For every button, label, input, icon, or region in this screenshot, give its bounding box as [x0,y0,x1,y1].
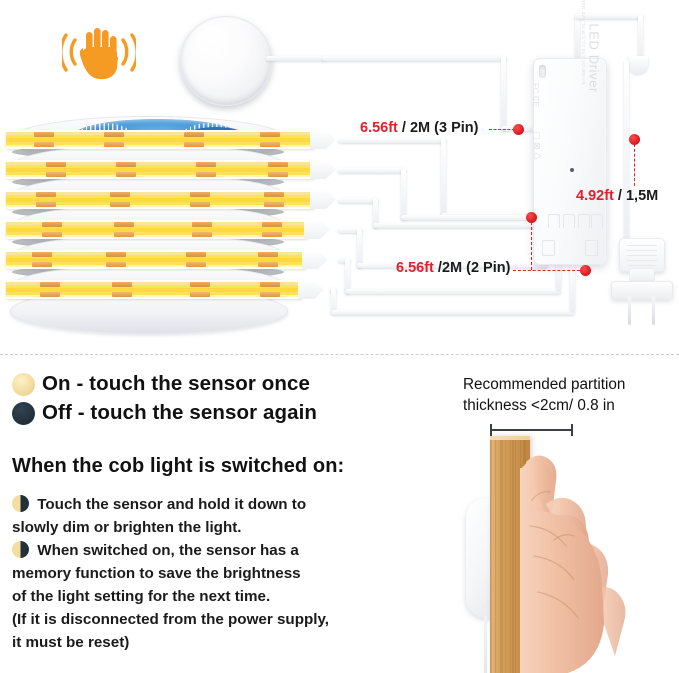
note-line: Touch the sensor and hold it down to [12,493,412,516]
led-strip [6,130,336,149]
harness-wire [556,262,561,290]
sensor-cable-stub [266,56,326,61]
wood-partition-top-edge [490,436,530,440]
partition-title: Recommended partition thickness <2cm/ 0.… [463,374,678,416]
compliance-symbols: ▢ ⊠ ♺ [531,131,542,160]
instructions-notes: Touch the sensor and hold it down to slo… [12,493,412,654]
note-line: (If it is disconnected from the power su… [12,608,412,631]
callout-dot-2pin-b [580,265,591,276]
ac-plug-head [619,238,665,272]
callout-2pin: 6.56ft /2M (2 Pin) [396,260,510,276]
hand-touching-partition [520,452,670,673]
led-strip-reel-stack [4,116,344,332]
half-moon-icon [12,495,29,512]
sensor-behind-wire [484,616,487,673]
driver-status-led [570,168,574,172]
plug-prong [652,297,655,325]
driver-brand-label: LED Driver [587,23,602,93]
driver-spec-text: MODEL: R2416-OUM04 INPUT: 100-240V~50/60… [580,0,586,85]
harness-wire [338,168,406,173]
round-touch-sensor [180,16,272,106]
ac-input-wire [575,14,580,60]
callout-leader-2pin-v [531,222,532,270]
note-line: memory function to save the brightness [12,562,412,585]
on-row: On - touch the sensor once [12,372,317,396]
driver-mount-notch [539,65,546,78]
led-strip [6,280,336,299]
off-row: Off - touch the sensor again [12,401,317,425]
led-strip [6,220,336,239]
instructions-panel: On - touch the sensor once Off - touch t… [0,362,430,673]
harness-wire [345,289,561,294]
led-strip [6,190,336,209]
led-strip [6,250,336,269]
note-line: slowly dim or brighten the light. [12,516,412,539]
full-moon-icon [12,373,35,396]
callout-power-cord: 4.92ft / 1,5M [576,188,658,204]
callout-3pin: 6.56ft / 2M (3 Pin) [360,120,478,136]
callout-dot-cord [629,134,640,145]
callout-leader-2pin [513,270,585,271]
ac-plug-base [611,281,673,300]
led-strip [6,160,336,179]
infographic-stage: LED Driver MODEL: R2416-OUM04 INPUT: 100… [0,0,679,673]
callout-dot-2pin-a [526,212,537,223]
callout-leader-3pin [489,129,515,130]
harness-wire [373,223,537,228]
harness-wire [441,138,446,218]
off-label: Off - touch the sensor again [42,401,317,425]
ac-input-wire [638,14,643,62]
wiring-diagram-panel: LED Driver MODEL: R2416-OUM04 INPUT: 100… [0,0,679,354]
callout-leader-cord [634,144,635,186]
thickness-measure-bracket [490,424,573,436]
callout-dot-3pin [513,124,524,135]
new-moon-icon [12,402,35,425]
harness-wire [338,198,378,203]
note-line: When switched on, the sensor has a [12,539,412,562]
sensor-wire [322,56,506,61]
instructions-heading: When the cob light is switched on: [12,455,344,478]
half-moon-icon [12,541,29,558]
note-line: it must be reset) [12,631,412,654]
on-label: On - touch the sensor once [42,372,310,396]
plug-prong [628,297,631,325]
certification-marks: FC CE [531,83,540,107]
harness-wire [401,215,537,220]
led-driver: LED Driver MODEL: R2416-OUM04 INPUT: 100… [533,58,607,265]
harness-wire [338,138,446,143]
section-divider [0,354,679,355]
harness-wire [401,168,406,220]
ac-cord [624,60,629,242]
onoff-legend: On - touch the sensor once Off - touch t… [12,372,317,425]
waving-hand-icon [62,22,136,82]
harness-wire [331,310,575,315]
sensor-wire [501,56,506,131]
note-line: of the light setting for the next time. [12,585,412,608]
harness-wire [357,228,362,268]
